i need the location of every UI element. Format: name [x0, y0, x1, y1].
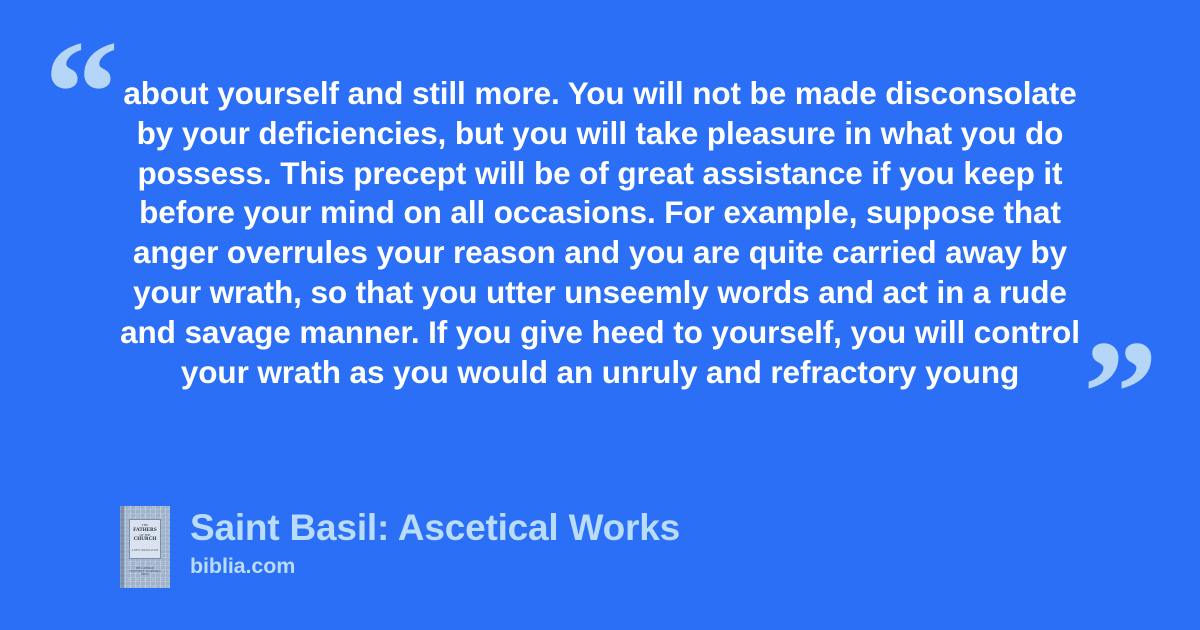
quote-card: “ about yourself and still more. You wil… — [0, 0, 1200, 630]
quote-line: about yourself and still more. You will … — [100, 74, 1100, 114]
attribution-text: Saint Basil: Ascetical Works biblia.com — [190, 506, 680, 579]
quote-line: your wrath as you would an unruly and re… — [100, 353, 1100, 393]
source-label: biblia.com — [190, 553, 680, 579]
book-cover-thumbnail: THE FATHERS OF THE CHURCH A NEW TRANSLAT… — [120, 506, 170, 588]
book-spine — [120, 506, 124, 588]
book-title: Saint Basil: Ascetical Works — [190, 506, 680, 550]
quote-line: and savage manner. If you give heed to y… — [100, 313, 1100, 353]
quote-line: possess. This precept will be of great a… — [100, 154, 1100, 194]
quote-line: your wrath, so that you utter unseemly w… — [100, 273, 1100, 313]
quote-line: anger overrules your reason and you are … — [100, 233, 1100, 273]
book-cover-publisher: THE CATHOLIC UNIVERSITY OF AMERICA PRESS — [129, 567, 161, 576]
book-cover-label: THE FATHERS OF THE CHURCH A NEW TRANSLAT… — [129, 519, 161, 559]
quote-line: before your mind on all occasions. For e… — [100, 193, 1100, 233]
closing-quote-icon: ” — [1083, 318, 1158, 468]
quote-line: by your deficiencies, but you will take … — [100, 114, 1100, 154]
book-cover-line-1: THE — [142, 523, 149, 527]
book-cover-subtitle: A NEW TRANSLATION — [132, 549, 159, 552]
attribution-footer: THE FATHERS OF THE CHURCH A NEW TRANSLAT… — [120, 506, 680, 588]
quote-text: about yourself and still more. You will … — [100, 74, 1100, 392]
book-cover-line-4: CHURCH — [134, 537, 157, 542]
